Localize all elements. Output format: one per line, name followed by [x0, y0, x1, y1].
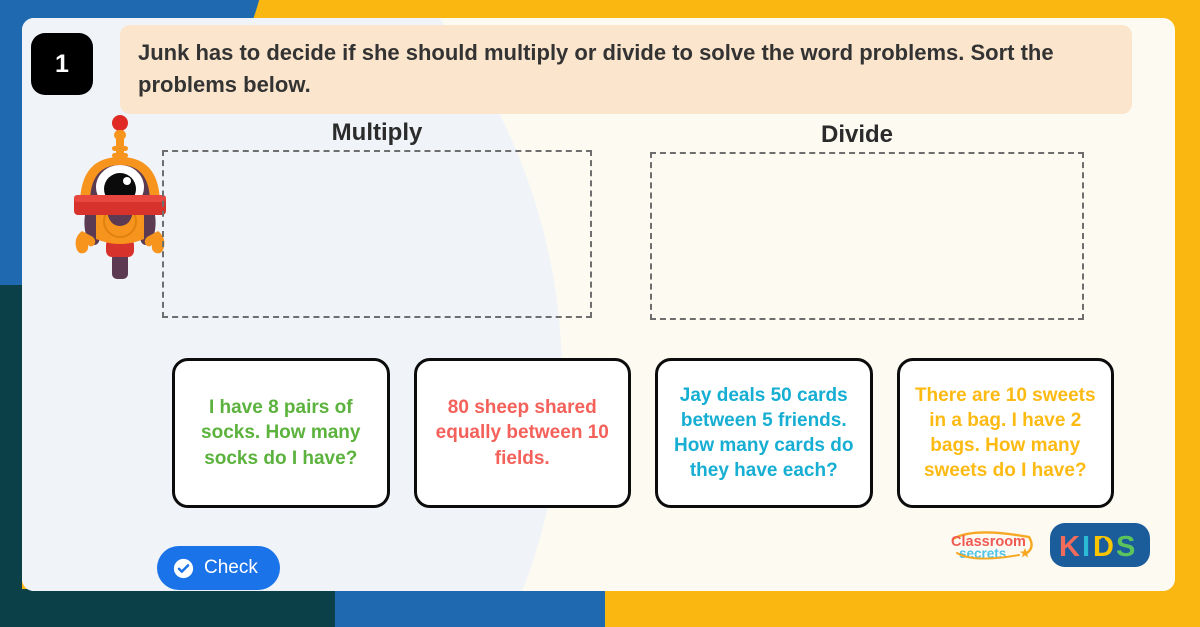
svg-text:K: K: [1059, 531, 1080, 563]
problem-card[interactable]: There are 10 sweets in a bag. I have 2 b…: [897, 358, 1115, 508]
problem-card[interactable]: 80 sheep shared equally between 10 field…: [414, 358, 632, 508]
dropzone-title-multiply: Multiply: [162, 119, 592, 147]
check-button-label: Check: [204, 557, 258, 579]
question-prompt: Junk has to decide if she should multipl…: [120, 25, 1132, 114]
activity-slide: 1 Junk has to decide if she should multi…: [22, 18, 1175, 591]
problem-cards-row: I have 8 pairs of socks. How many socks …: [172, 358, 1114, 508]
classroom-secrets-logo: Classroom secrets: [945, 527, 1043, 563]
decorative-bottom-blue-band: [335, 589, 605, 627]
decorative-left-blue-band: [0, 0, 22, 290]
decorative-left-teal-band: [0, 285, 22, 627]
problem-card[interactable]: I have 8 pairs of socks. How many socks …: [172, 358, 390, 508]
kids-logo: K I D S: [1050, 521, 1150, 569]
dropzone-multiply[interactable]: [162, 150, 592, 318]
slide-stage: 1 Junk has to decide if she should multi…: [0, 0, 1200, 627]
check-button[interactable]: Check: [157, 546, 280, 590]
dropzone-divide[interactable]: [650, 152, 1084, 320]
dropzone-title-divide: Divide: [642, 121, 1072, 149]
decorative-bottom-teal-band: [0, 589, 335, 627]
problem-card[interactable]: Jay deals 50 cards between 5 friends. Ho…: [655, 358, 873, 508]
svg-text:I: I: [1082, 531, 1090, 563]
check-circle-icon: [173, 558, 194, 579]
svg-text:S: S: [1116, 531, 1135, 563]
question-number-badge: 1: [31, 33, 93, 95]
junk-robot-mascot: [66, 113, 174, 293]
